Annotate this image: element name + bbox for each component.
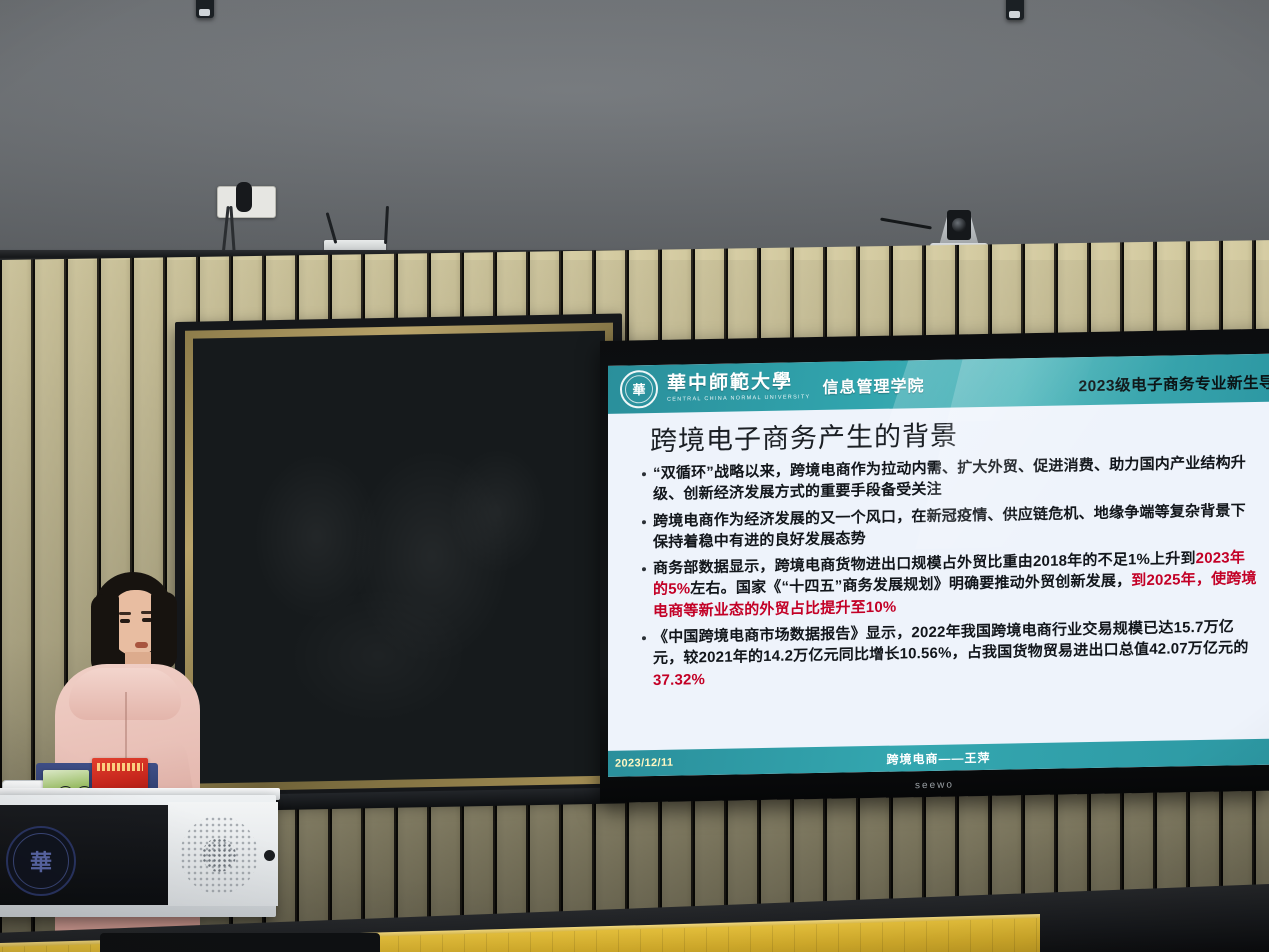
slide-bullet-text: 商务部数据显示，跨境电商货物进出口规模占外贸比重由2018年的不足1%上升到20…: [653, 547, 1259, 622]
university-name-en: CENTRAL CHINA NORMAL UNIVERSITY: [667, 394, 811, 403]
slide-bullet: 跨境电商作为经济发展的又一个风口，在新冠疫情、供应链危机、地缘争端等复杂背景下保…: [642, 500, 1259, 554]
slide-footer: 2023/12/11 跨境电商——王萍: [608, 739, 1269, 777]
slide-bullet-list: “双循环”战略以来，跨境电商作为拉动内需、扩大外贸、促进消费、助力国内产业结构升…: [608, 449, 1269, 692]
slide-footer-title: 跨境电商——王萍: [608, 743, 1269, 772]
mouth: [135, 642, 148, 648]
speaker-logo-icon: [202, 838, 236, 872]
university-crest-icon: 華: [620, 370, 658, 409]
crest-glyph: 華: [632, 383, 645, 396]
university-name-cn: 華中師範大學: [667, 372, 811, 395]
bullet-text-segment: “双循环”战略以来，跨境电商作为拉动内需、扩大外贸、促进消费、助力国内产业结构升…: [653, 454, 1246, 503]
ceiling-camera-mount: [1006, 0, 1024, 20]
bullet-text-segment: 左右。国家《“十四五”商务发展规划》明确要推动外贸创新发展，: [690, 573, 1131, 598]
speaker-knob[interactable]: [264, 850, 275, 861]
slide-bullet-text: “双循环”战略以来，跨境电商作为拉动内需、扩大外贸、促进消费、助力国内产业结构升…: [653, 452, 1259, 506]
slide-bullet-text: 《中国跨境电商市场数据报告》显示，2022年我国跨境电商行业交易规模已达15.7…: [653, 616, 1259, 691]
slide-bullet: 《中国跨境电商市场数据报告》显示，2022年我国跨境电商行业交易规模已达15.7…: [642, 616, 1259, 691]
upper-wall: [0, 0, 1269, 258]
presentation-slide[interactable]: 華 華中師範大學 CENTRAL CHINA NORMAL UNIVERSITY…: [608, 354, 1269, 777]
blackboard-surface: [193, 331, 605, 784]
desk-front-panel: [100, 933, 380, 952]
slide-bullet-text: 跨境电商作为经济发展的又一个风口，在新冠疫情、供应链危机、地缘争端等复杂背景下保…: [653, 500, 1259, 554]
plug-icon: [236, 182, 252, 212]
highlighted-text: 37.32%: [653, 671, 705, 689]
podium-emblem-glyph: 華: [30, 845, 52, 877]
camera-lens-icon: [952, 218, 966, 232]
bullet-dot-icon: [642, 636, 646, 640]
bullet-dot-icon: [642, 472, 646, 476]
smart-display[interactable]: 華 華中師範大學 CENTRAL CHINA NORMAL UNIVERSITY…: [600, 329, 1269, 803]
blackboard: [175, 313, 622, 802]
course-title-header: 2023级电子商务专业新生导: [1079, 371, 1269, 397]
eye-left: [120, 619, 130, 623]
classroom-scene: 華 華中師範大學 CENTRAL CHINA NORMAL UNIVERSITY…: [0, 0, 1269, 952]
bullet-dot-icon: [642, 567, 646, 571]
bullet-text-segment: 《中国跨境电商市场数据报告》显示，2022年我国跨境电商行业交易规模已达15.7…: [653, 618, 1249, 667]
ceiling-light-fixture: [196, 0, 214, 18]
bullet-text-segment: 跨境电商作为经济发展的又一个风口，在新冠疫情、供应链危机、地缘争端等复杂背景下保…: [653, 502, 1246, 551]
podium-speaker: [168, 802, 278, 906]
podium-university-emblem-icon: 華: [6, 826, 76, 896]
slide-bullet: 商务部数据显示，跨境电商货物进出口规模占外贸比重由2018年的不足1%上升到20…: [642, 547, 1259, 622]
bullet-dot-icon: [642, 520, 646, 524]
slide-bullet: “双循环”战略以来，跨境电商作为拉动内需、扩大外贸、促进消费、助力国内产业结构升…: [642, 452, 1259, 506]
college-name: 信息管理学院: [823, 372, 925, 398]
